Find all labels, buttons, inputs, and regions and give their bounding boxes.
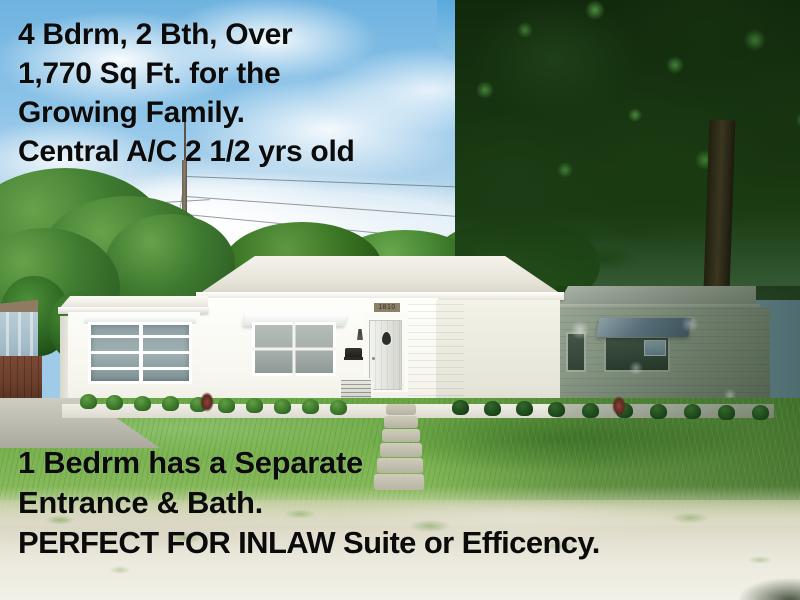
shrub xyxy=(246,398,263,413)
shrub xyxy=(548,402,565,417)
main-hip-roof xyxy=(196,256,564,296)
stepping-stone xyxy=(377,458,423,473)
shrub xyxy=(162,396,179,411)
house-number: 1810 xyxy=(374,303,400,312)
shrub xyxy=(718,405,735,420)
shrub xyxy=(484,401,501,416)
shrub xyxy=(106,395,123,410)
door-window-icon xyxy=(381,331,392,346)
listing-photo: 1810 4 Bd xyxy=(0,0,800,600)
shrub xyxy=(134,396,151,411)
left-window-mullions xyxy=(88,322,192,384)
right-awning-two xyxy=(596,318,691,337)
stepping-stone xyxy=(386,404,416,415)
caption-bottom-line-3: PERFECT FOR INLAW Suite or Efficency. xyxy=(18,523,600,563)
air-conditioner-unit xyxy=(644,340,666,356)
ornamental-plant xyxy=(612,396,626,416)
stepping-stone xyxy=(384,416,418,428)
corner-shadow xyxy=(700,560,800,600)
stepping-stone xyxy=(380,443,422,457)
shrub xyxy=(80,394,97,409)
shrub xyxy=(274,399,291,414)
caption-bottom-line-1: 1 Bedrm has a Separate xyxy=(18,443,363,483)
shrub xyxy=(516,401,533,416)
shrub xyxy=(302,399,319,414)
caption-bottom-line-2: Entrance & Bath. xyxy=(18,483,263,523)
shrub xyxy=(650,404,667,419)
right-window-small xyxy=(566,332,586,372)
stepping-stone xyxy=(382,429,420,442)
shrub xyxy=(752,405,769,420)
center-window-mullions xyxy=(252,322,336,376)
ornamental-plant xyxy=(200,392,214,412)
mailbox-lip xyxy=(344,357,363,360)
shrub xyxy=(330,400,347,415)
caption-top-line-3: Growing Family. xyxy=(18,94,245,132)
caption-top-line-2: 1,770 Sq Ft. for the xyxy=(18,55,280,93)
shrub xyxy=(218,398,235,413)
door-knob-icon xyxy=(372,357,375,360)
shrub xyxy=(684,404,701,419)
caption-top-line-1: 4 Bdrm, 2 Bth, Over xyxy=(18,16,292,54)
caption-top-line-4: Central A/C 2 1/2 yrs old xyxy=(18,133,355,171)
shrub xyxy=(452,400,469,415)
shrub xyxy=(582,403,599,418)
